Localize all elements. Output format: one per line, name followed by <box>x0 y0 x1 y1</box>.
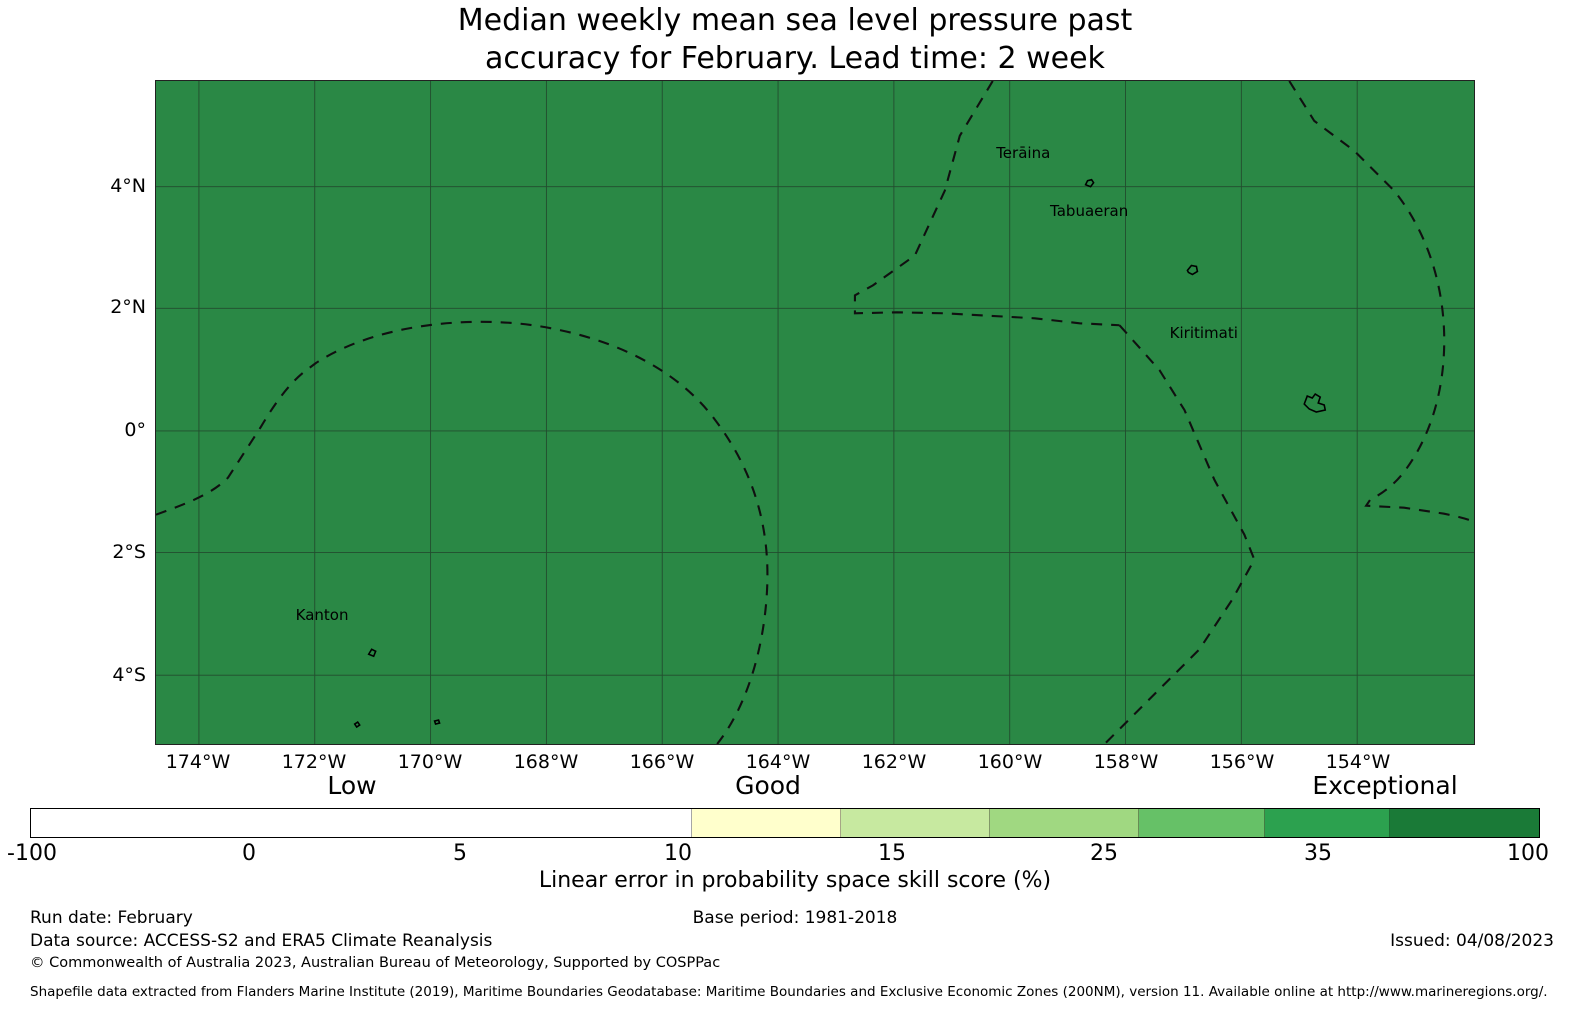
colorbar-segment-25-35 <box>1265 809 1391 837</box>
colorbar-category-labels: Low Good Exceptional <box>0 771 1590 801</box>
island-label-kiritimati: Kiritimati <box>1170 324 1238 342</box>
colorbar-tick: 35 <box>1248 841 1388 866</box>
colorbar-tick: 15 <box>822 841 962 866</box>
eez-boundary-lines <box>156 81 1474 744</box>
x-tick-label: 160°W <box>950 751 1070 773</box>
y-tick-label: 4°S <box>86 664 146 686</box>
colorbar-category-exceptional: Exceptional <box>1255 771 1515 800</box>
island-label-teraina: Terāina <box>996 144 1050 162</box>
colorbar-tick: 100 <box>1458 841 1590 866</box>
colorbar-tick: 0 <box>179 841 319 866</box>
colorbar-tick: 25 <box>1034 841 1174 866</box>
data-source-text: Data source: ACCESS-S2 and ERA5 Climate … <box>30 930 720 953</box>
colorbar-segment-5-10 <box>841 809 990 837</box>
y-tick-label: 4°N <box>86 175 146 197</box>
y-tick-label: 2°N <box>86 296 146 318</box>
map-plot-area[interactable]: Kanton Terāina Tabuaeran Kiritimati <box>155 80 1475 745</box>
page-title: Median weekly mean sea level pressure pa… <box>0 0 1590 78</box>
island-shapes <box>355 180 1474 727</box>
copyright-text: © Commonwealth of Australia 2023, Austra… <box>30 953 720 973</box>
map-overlay <box>156 81 1474 744</box>
x-tick-label: 154°W <box>1298 751 1418 773</box>
colorbar-segment-35-100 <box>1390 809 1539 837</box>
x-tick-label: 170°W <box>370 751 490 773</box>
colorbar-tick: 10 <box>608 841 748 866</box>
colorbar-segment-0-5 <box>692 809 841 837</box>
x-tick-label: 172°W <box>254 751 374 773</box>
x-tick-label: 166°W <box>602 751 722 773</box>
colorbar-category-good: Good <box>638 771 898 800</box>
y-axis: 4°N 2°N 0° 2°S 4°S <box>80 80 146 745</box>
colorbar-tick: -100 <box>0 841 102 866</box>
colorbar[interactable] <box>30 808 1540 838</box>
x-tick-label: 162°W <box>834 751 954 773</box>
colorbar-axis-label: Linear error in probability space skill … <box>0 868 1590 893</box>
map-gridlines <box>156 81 1474 744</box>
colorbar-category-low: Low <box>222 771 482 800</box>
colorbar-tick-labels: -100 0 5 10 15 25 35 100 <box>0 841 1590 867</box>
island-label-kanton: Kanton <box>296 606 349 624</box>
x-tick-label: 168°W <box>486 751 606 773</box>
base-period-text: Base period: 1981-2018 <box>0 908 1590 928</box>
x-tick-label: 156°W <box>1182 751 1302 773</box>
issued-date-text: Issued: 04/08/2023 <box>1390 931 1554 951</box>
x-tick-label: 164°W <box>718 751 838 773</box>
y-tick-label: 2°S <box>86 541 146 563</box>
x-tick-label: 158°W <box>1066 751 1186 773</box>
colorbar-segment-neg100-0 <box>31 809 692 837</box>
x-tick-label: 174°W <box>138 751 258 773</box>
y-tick-label: 0° <box>86 419 146 441</box>
shapefile-attribution-text: Shapefile data extracted from Flanders M… <box>30 984 1548 1000</box>
colorbar-tick: 5 <box>390 841 530 866</box>
colorbar-segment-10-15 <box>990 809 1139 837</box>
island-label-tabuaeran: Tabuaeran <box>1050 202 1128 220</box>
colorbar-segment-15-25 <box>1139 809 1265 837</box>
